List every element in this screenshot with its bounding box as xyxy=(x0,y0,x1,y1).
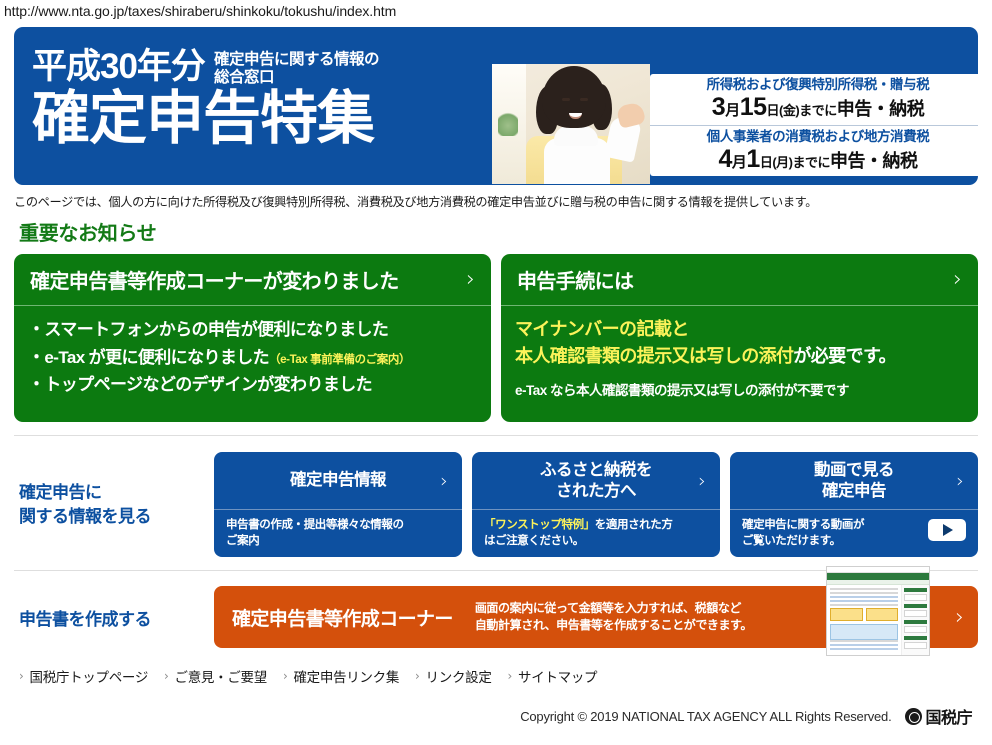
card-description: 確定申告に関する動画が ご覧いただけます。 xyxy=(742,517,922,549)
card-header[interactable]: ふるさと納税を された方へ › xyxy=(472,452,720,510)
nta-logo: 国税庁 xyxy=(905,704,972,728)
card-description-highlight: 「ワンストップ特例」 xyxy=(484,519,595,531)
card-description-line2: はご注意ください。 xyxy=(484,533,708,549)
photo-eye-left xyxy=(562,98,570,101)
hero-subtitle: 確定申告に関する情報の 総合窓口 xyxy=(214,51,379,88)
notice-highlight-emphasis: 本人確認書類の提示又は写しの添付 xyxy=(515,346,793,366)
notice-body: ・スマートフォンからの申告が便利になりました ・e-Tax が更に便利になりまし… xyxy=(14,306,491,399)
thumbnail-side-item xyxy=(904,610,927,617)
card-description-line2: ご覧いただけます。 xyxy=(742,533,922,549)
deadline-month-unit: 月 xyxy=(725,102,740,119)
thumbnail-line xyxy=(830,600,898,602)
create-corner-button[interactable]: 確定申告書等作成コーナー 画面の案内に従って金額等を入力すれば、税額など 自動計… xyxy=(214,586,978,648)
chevron-right-icon: › xyxy=(440,470,448,492)
chevron-right-icon: › xyxy=(508,669,513,683)
footer-link-shinkoku-links[interactable]: › 確定申告リンク集 xyxy=(283,666,399,686)
deadline-month: 3 xyxy=(712,93,725,121)
play-icon[interactable] xyxy=(928,519,966,541)
card-description-line1: 「ワンストップ特例」を適用された方 xyxy=(484,517,708,533)
deadline-date: 3月15日(金)までに申告・納税 xyxy=(660,94,976,122)
thumbnail-line xyxy=(830,648,898,650)
card-description: 「ワンストップ特例」を適用された方 はご注意ください。 xyxy=(484,517,708,549)
create-strip: 申告書を作成する 確定申告書等作成コーナー 画面の案内に従って金額等を入力すれば… xyxy=(14,571,978,648)
notice-bullet: ・スマートフォンからの申告が便利になりました xyxy=(28,316,477,344)
footer-link-feedback[interactable]: › ご意見・ご要望 xyxy=(164,666,267,686)
chevron-right-icon: › xyxy=(19,669,24,683)
info-strip-label: 確定申告に 関する情報を見る xyxy=(14,481,214,529)
nta-logo-icon xyxy=(905,708,922,725)
footer-copyright-row: Copyright © 2019 NATIONAL TAX AGENCY ALL… xyxy=(14,704,978,728)
deadline-weekday: (月) xyxy=(772,155,792,170)
section-heading-important-notices: 重要なお知らせ xyxy=(19,217,978,246)
deadline-row-consumption-tax: 個人事業者の消費税および地方消費税 4月1日(月)までに申告・納税 xyxy=(650,125,978,176)
footer-link-sitemap[interactable]: › サイトマップ xyxy=(508,666,598,686)
create-strip-label: 申告書を作成する xyxy=(14,605,214,630)
notice-bullet-text: ・e-Tax が更に便利になりました xyxy=(28,348,269,367)
footer-link-label: リンク設定 xyxy=(426,666,492,686)
chevron-right-icon: › xyxy=(164,669,169,683)
thumbnail-button-row xyxy=(830,608,898,621)
thumbnail-nav-bar xyxy=(827,573,929,580)
photo-plant xyxy=(498,110,518,136)
notice-bullet-with-note: ・e-Tax が更に便利になりました（e-Tax 事前準備のご案内） xyxy=(28,344,477,372)
lead-paragraph: このページでは、個人の方に向けた所得税及び復興特別所得税、消費税及び地方消費税の… xyxy=(14,192,978,210)
notice-highlight-plain: が必要です。 xyxy=(793,346,896,366)
thumbnail-button xyxy=(866,608,899,621)
card-title: ふるさと納税を された方へ xyxy=(540,460,652,501)
hero-subtitle-line1: 確定申告に関する情報の xyxy=(214,51,379,69)
chevron-right-icon: › xyxy=(955,605,964,630)
deadline-day: 15 xyxy=(740,93,767,121)
card-kakutei-shinkoku-jouhou[interactable]: 確定申告情報 › 申告書の作成・提出等様々な情報の ご案内 xyxy=(214,452,462,557)
deadline-panel: 所得税および復興特別所得税・贈与税 3月15日(金)までに申告・納税 個人事業者… xyxy=(650,74,978,176)
thumbnail-line xyxy=(830,592,898,594)
thumbnail-side-column xyxy=(901,585,929,656)
card-description-line1: 確定申告に関する動画が xyxy=(742,517,922,533)
notice-bullet: ・トップページなどのデザインが変わりました xyxy=(28,371,477,399)
create-corner-title: 確定申告書等作成コーナー xyxy=(232,604,453,631)
card-title: 動画で見る 確定申告 xyxy=(814,460,894,501)
deadline-month-unit: 月 xyxy=(732,154,747,171)
notice-header[interactable]: 確定申告書等作成コーナーが変わりました › xyxy=(14,254,491,306)
thumbnail-side-header xyxy=(904,636,927,640)
info-strip-label-line1: 確定申告に xyxy=(19,481,214,505)
footer-link-label: 国税庁トップページ xyxy=(30,666,149,686)
photo-turtleneck xyxy=(554,126,598,146)
thumbnail-side-item xyxy=(904,626,927,633)
chevron-right-icon: › xyxy=(466,269,475,291)
footer-link-label: ご意見・ご要望 xyxy=(175,666,267,686)
notices-row: 確定申告書等作成コーナーが変わりました › ・スマートフォンからの申告が便利にな… xyxy=(14,254,978,422)
chevron-right-icon: › xyxy=(415,669,420,683)
thumbnail-line xyxy=(830,604,898,606)
card-description-line1: 申告書の作成・提出等様々な情報の xyxy=(226,517,450,533)
notice-bullet-note: （e-Tax 事前準備のご案内） xyxy=(269,354,410,366)
thumbnail-side-header xyxy=(904,620,927,624)
deadline-day-unit: 日 xyxy=(760,155,773,170)
hero-photo xyxy=(492,64,650,184)
card-title-line2: 確定申告 xyxy=(814,481,894,501)
notice-card-shinkoku-tetsuzuki[interactable]: 申告手続には › マイナンバーの記載と 本人確認書類の提示又は写しの添付が必要で… xyxy=(501,254,978,422)
chevron-right-icon: › xyxy=(956,470,964,492)
deadline-weekday: (金) xyxy=(779,103,799,118)
hero-banner: 平成30年分 確定申告に関する情報の 総合窓口 確定申告特集 xyxy=(14,27,978,185)
deadline-tail-prefix: までに xyxy=(799,103,837,118)
thumbnail-side-header xyxy=(904,588,927,592)
deadline-day-unit: 日 xyxy=(767,103,780,118)
create-corner-thumbnail xyxy=(826,566,930,656)
play-triangle-icon xyxy=(943,524,953,536)
notice-highlight-line1: マイナンバーの記載と xyxy=(515,316,964,343)
card-body: 確定申告に関する動画が ご覧いただけます。 xyxy=(730,510,978,557)
hero-subtitle-line2: 総合窓口 xyxy=(214,69,379,87)
deadline-date: 4月1日(月)までに申告・納税 xyxy=(660,146,976,174)
deadline-day: 1 xyxy=(746,145,759,173)
photo-hand xyxy=(616,101,647,129)
thumbnail-line xyxy=(830,644,898,646)
card-title-line2: された方へ xyxy=(540,481,652,501)
deadline-row-income-tax: 所得税および復興特別所得税・贈与税 3月15日(金)までに申告・納税 xyxy=(650,74,978,125)
chevron-right-icon: › xyxy=(953,269,962,291)
notice-highlight-line2: 本人確認書類の提示又は写しの添付が必要です。 xyxy=(515,343,964,370)
card-title-line1: 動画で見る xyxy=(814,460,894,480)
hero-year: 平成30年分 xyxy=(32,49,205,84)
card-title-line1: ふるさと納税を xyxy=(540,460,652,480)
card-douga-de-miru[interactable]: 動画で見る 確定申告 › 確定申告に関する動画が ご覧いただけます。 xyxy=(730,452,978,557)
info-strip-label-line2: 関する情報を見る xyxy=(19,505,214,529)
page-container: 平成30年分 確定申告に関する情報の 総合窓口 確定申告特集 xyxy=(0,27,992,728)
deadline-tail-prefix: までに xyxy=(793,155,831,170)
thumbnail-side-header xyxy=(904,604,927,608)
notice-body: マイナンバーの記載と 本人確認書類の提示又は写しの添付が必要です。 e-Tax … xyxy=(501,306,978,399)
thumbnail-button xyxy=(830,608,863,621)
copyright-text: Copyright © 2019 NATIONAL TAX AGENCY ALL… xyxy=(520,709,891,724)
notice-title: 申告手続には xyxy=(517,265,945,294)
card-title: 確定申告情報 xyxy=(290,470,386,490)
chevron-right-icon: › xyxy=(283,669,288,683)
card-header[interactable]: 確定申告情報 › xyxy=(214,452,462,510)
info-strip: 確定申告に 関する情報を見る 確定申告情報 › 申告書の作成・提出等様々な情報の… xyxy=(14,436,978,557)
footer-link-label: 確定申告リンク集 xyxy=(293,666,399,686)
footer-link-label: サイトマップ xyxy=(518,666,597,686)
thumbnail-line xyxy=(830,588,898,590)
deadline-heading: 個人事業者の消費税および地方消費税 xyxy=(660,129,976,145)
deadline-tail-bold: 申告・納税 xyxy=(830,151,918,171)
thumbnail-panel xyxy=(830,624,898,640)
notice-card-sakusei-corner[interactable]: 確定申告書等作成コーナーが変わりました › ・スマートフォンからの申告が便利にな… xyxy=(14,254,491,422)
info-cards: 確定申告情報 › 申告書の作成・提出等様々な情報の ご案内 ふるさと納税を され… xyxy=(214,452,978,557)
card-description-line2: ご案内 xyxy=(226,533,450,549)
thumbnail-line xyxy=(830,640,898,642)
thumbnail-line xyxy=(830,596,898,598)
card-description-rest: を適用された方 xyxy=(595,519,673,531)
nta-logo-text: 国税庁 xyxy=(925,704,972,728)
card-furusato-nouzei[interactable]: ふるさと納税を された方へ › 「ワンストップ特例」を適用された方 はご注意くだ… xyxy=(472,452,720,557)
footer-link-link-policy[interactable]: › リンク設定 xyxy=(415,666,492,686)
hero-headline-block: 平成30年分 確定申告に関する情報の 総合窓口 確定申告特集 xyxy=(32,49,482,148)
thumbnail-main-column xyxy=(827,585,901,656)
photo-eye-right xyxy=(580,98,588,101)
hero-title: 確定申告特集 xyxy=(32,90,482,148)
footer-links: › 国税庁トップページ › ご意見・ご要望 › 確定申告リンク集 › リンク設定… xyxy=(14,666,978,686)
thumbnail-side-item xyxy=(904,642,927,649)
deadline-heading: 所得税および復興特別所得税・贈与税 xyxy=(660,77,976,93)
notice-subtext: e-Tax なら本人確認書類の提示又は写しの添付が不要です xyxy=(515,379,964,399)
card-description: 申告書の作成・提出等様々な情報の ご案内 xyxy=(226,517,450,549)
notice-header[interactable]: 申告手続には › xyxy=(501,254,978,306)
chevron-right-icon: › xyxy=(698,470,706,492)
thumbnail-body xyxy=(827,585,929,656)
notice-title: 確定申告書等作成コーナーが変わりました xyxy=(30,265,458,294)
card-header[interactable]: 動画で見る 確定申告 › xyxy=(730,452,978,510)
card-body: 「ワンストップ特例」を適用された方 はご注意ください。 xyxy=(472,510,720,557)
thumbnail-side-item xyxy=(904,594,927,601)
browser-url-bar[interactable]: http://www.nta.go.jp/taxes/shiraberu/shi… xyxy=(0,0,992,22)
footer-link-nta-top[interactable]: › 国税庁トップページ xyxy=(19,666,148,686)
deadline-month: 4 xyxy=(718,145,731,173)
hero-year-row: 平成30年分 確定申告に関する情報の 総合窓口 xyxy=(32,49,482,88)
deadline-tail-bold: 申告・納税 xyxy=(837,99,925,119)
card-body: 申告書の作成・提出等様々な情報の ご案内 xyxy=(214,510,462,557)
